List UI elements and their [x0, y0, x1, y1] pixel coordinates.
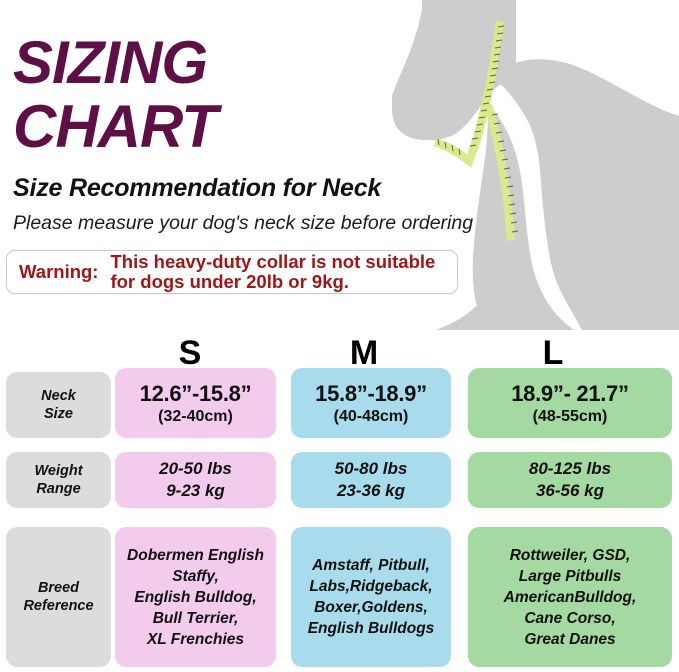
neck-size-small-cm: (32-40cm): [158, 408, 233, 426]
row-label-neck-size-line2: Size: [44, 405, 73, 423]
breed-line: Boxer,Goldens,: [308, 597, 434, 618]
header-block: SIZING CHART Size Recommendation for Nec…: [0, 0, 480, 235]
neck-size-medium-cm: (40-48cm): [334, 408, 409, 426]
breed-line: English Bulldog,: [128, 587, 262, 608]
weight-range-small-kg: 9-23 kg: [166, 480, 225, 502]
row-label-weight-range-line1: Weight: [34, 462, 82, 480]
breed-line: Cane Corso,: [518, 608, 621, 629]
warning-message-line1: This heavy-duty collar is not suitable: [110, 252, 435, 272]
breed-line: Staffy,: [166, 566, 225, 587]
size-header-small: S: [148, 334, 232, 373]
weight-range-medium-kg: 23-36 kg: [337, 480, 405, 502]
breed-line: Dobermen English: [121, 545, 270, 566]
row-label-breed-reference-line2: Reference: [23, 597, 93, 615]
breed-line: Rottweiler, GSD,: [504, 545, 637, 566]
breed-reference-medium: Amstaff, Pitbull, Labs,Ridgeback, Boxer,…: [291, 527, 451, 667]
page-title-line2: CHART: [13, 98, 480, 156]
breed-line: English Bulldogs: [302, 618, 441, 639]
subtitle: Size Recommendation for Neck: [13, 174, 480, 203]
breed-reference-small: Dobermen English Staffy, English Bulldog…: [115, 527, 276, 667]
weight-range-large-lbs: 80-125 lbs: [529, 458, 611, 480]
size-header-large: L: [511, 334, 595, 373]
breed-line: Amstaff, Pitbull,: [306, 555, 436, 576]
breed-line: AmericanBulldog,: [498, 587, 643, 608]
breed-line: Labs,Ridgeback,: [303, 576, 438, 597]
breed-reference-large: Rottweiler, GSD, Large Pitbulls American…: [468, 527, 672, 667]
neck-size-large-cm: (48-55cm): [533, 408, 608, 426]
weight-range-large: 80-125 lbs 36-56 kg: [468, 452, 672, 508]
breed-line: XL Frenchies: [141, 629, 250, 650]
row-label-breed-reference-line1: Breed: [38, 579, 79, 597]
weight-range-medium: 50-80 lbs 23-36 kg: [291, 452, 451, 508]
neck-size-small-inches: 12.6”-15.8”: [140, 381, 252, 407]
warning-message-line2: for dogs under 20lb or 9kg.: [110, 272, 435, 292]
neck-size-medium: 15.8”-18.9” (40-48cm): [291, 368, 451, 438]
breed-line: Great Danes: [518, 629, 621, 650]
sizing-chart-page: SIZING CHART Size Recommendation for Nec…: [0, 0, 679, 672]
weight-range-large-kg: 36-56 kg: [536, 480, 604, 502]
neck-size-large: 18.9”- 21.7” (48-55cm): [468, 368, 672, 438]
size-header-medium: M: [322, 334, 406, 373]
instruction-text: Please measure your dog's neck size befo…: [13, 212, 480, 235]
warning-box: Warning: This heavy-duty collar is not s…: [6, 250, 458, 294]
row-label-breed-reference: Breed Reference: [6, 527, 111, 667]
breed-line: Bull Terrier,: [147, 608, 245, 629]
row-label-neck-size: Neck Size: [6, 372, 111, 438]
weight-range-small-lbs: 20-50 lbs: [159, 458, 232, 480]
breed-line: Large Pitbulls: [513, 566, 628, 587]
page-title-line1: SIZING: [13, 34, 480, 92]
row-label-weight-range-line2: Range: [36, 480, 80, 498]
row-label-weight-range: Weight Range: [6, 452, 111, 508]
weight-range-small: 20-50 lbs 9-23 kg: [115, 452, 276, 508]
warning-message: This heavy-duty collar is not suitable f…: [110, 252, 435, 292]
neck-size-small: 12.6”-15.8” (32-40cm): [115, 368, 276, 438]
neck-size-large-inches: 18.9”- 21.7”: [511, 381, 628, 407]
neck-size-medium-inches: 15.8”-18.9”: [315, 381, 427, 407]
weight-range-medium-lbs: 50-80 lbs: [335, 458, 408, 480]
warning-label: Warning:: [19, 261, 98, 283]
row-label-neck-size-line1: Neck: [41, 387, 76, 405]
